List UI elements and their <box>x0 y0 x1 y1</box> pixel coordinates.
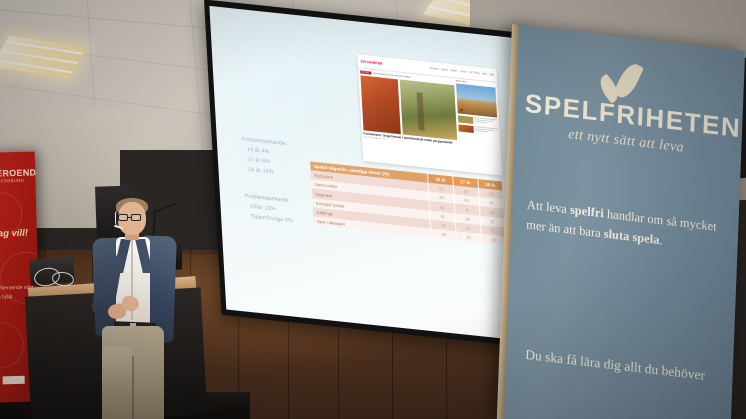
news-site-screenshot: SVT NYHETER Nyheter Sport Väder Lokalt S… <box>357 55 503 176</box>
banner-p1-part-4: . <box>659 233 663 247</box>
glasses-bridge <box>128 217 131 218</box>
banner-p1-part-1: spelfri <box>570 202 604 220</box>
projection-screen: Problemspelande: 16 år 4% 17 år 6% 18 år… <box>204 0 542 349</box>
table-cell: 16 <box>456 231 481 243</box>
news-sidebar-thumb <box>458 124 474 133</box>
news-video-thumb <box>456 84 498 118</box>
news-nav-item-3: Lokalt <box>460 70 467 74</box>
banner-left-logo <box>3 376 25 385</box>
headset-microphone-icon <box>115 210 120 226</box>
slide-data-table: Spelat någon/in, samtliga elever (%) 16 … <box>311 161 507 245</box>
banner-p1-part-3: sluta spela <box>603 227 659 248</box>
search-icon: Sök <box>489 73 494 76</box>
banner-p1-part-0: Att leva <box>527 197 570 216</box>
news-nav-item-4: SVT Play <box>469 71 480 75</box>
conference-room-scene: Problemspelande: 16 år 4% 17 år 6% 18 år… <box>0 0 746 419</box>
projected-slide: Problemspelande: 16 år 4% 17 år 6% 18 år… <box>209 6 536 342</box>
news-logo: SVT NYHETER <box>360 59 382 65</box>
news-sidebar-text <box>475 126 499 135</box>
trousers-highlight <box>102 346 132 386</box>
glasses-icon <box>131 214 141 221</box>
rollup-banner-right: SPELFRIHETEN ett nytt sätt att leva Att … <box>497 24 745 419</box>
trouser-seam <box>132 356 134 419</box>
news-nav-item-0: Nyheter <box>430 67 439 71</box>
news-nav-item-1: Sport <box>441 68 447 72</box>
news-sidebar-thumb <box>458 116 474 125</box>
table-cell: 25 <box>431 229 456 241</box>
presenter <box>86 196 198 419</box>
news-photos <box>360 75 457 140</box>
news-badge: NYHET <box>360 71 372 75</box>
banner-left-slogan: r jag vill! <box>0 227 37 239</box>
banner-left-line-2: RIKSFÖRBUND <box>0 177 36 183</box>
news-photo-secondary <box>399 79 457 140</box>
play-icon <box>460 108 463 112</box>
news-main-column: NYHET Spelmissbruk bland unga ökar kraft… <box>358 68 461 171</box>
news-nav-item-5: Mer <box>482 73 487 76</box>
news-photo-primary <box>360 75 401 134</box>
news-sidebar: MEST LÄST <box>456 79 503 176</box>
news-nav-item-2: Väder <box>450 69 457 73</box>
banner-paragraph-2: Du ska få lära dig allt du behöver <box>525 345 725 389</box>
table-cell: 13 <box>481 234 506 246</box>
banner-paragraph-1: Att leva spelfri handlar om så mycket me… <box>526 194 723 257</box>
